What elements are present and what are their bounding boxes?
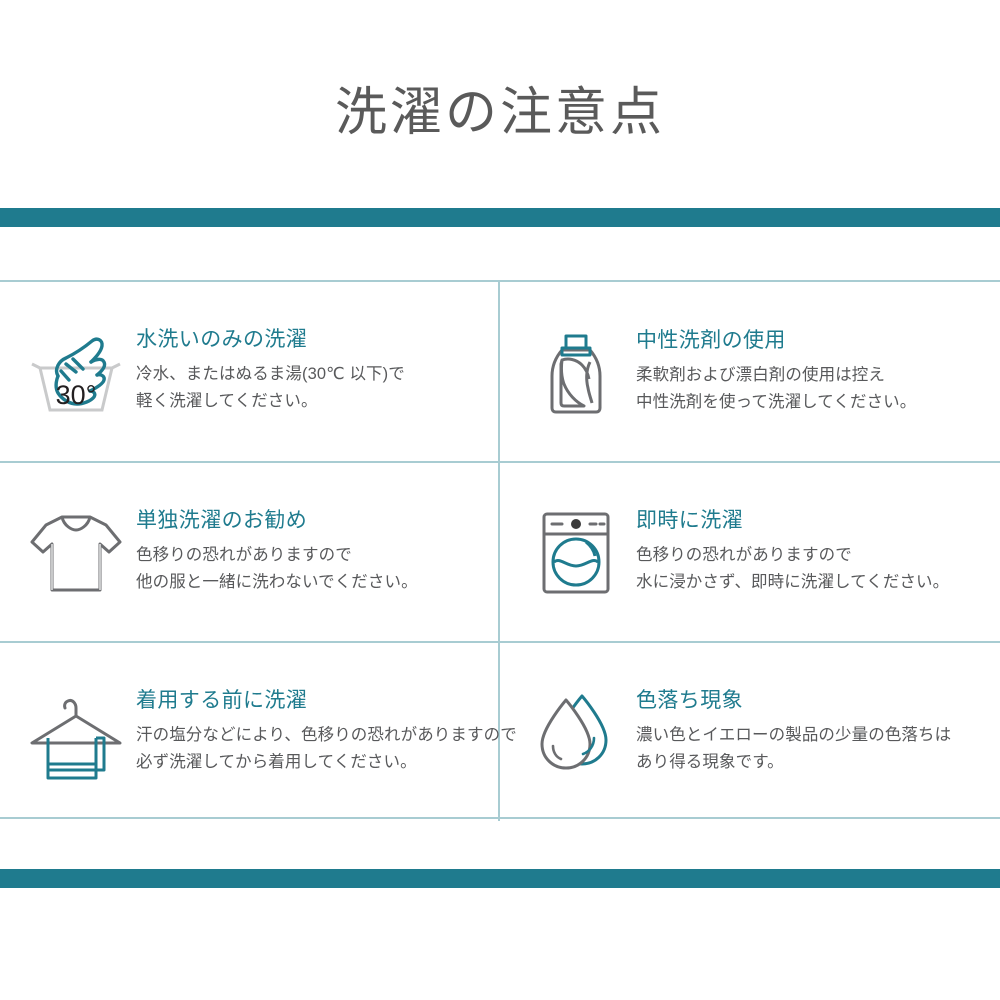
care-item-text: 色落ち現象 濃い色とイエローの製品の少量の色落ちは あり得る現象です。	[636, 688, 951, 776]
care-item-text: 水洗いのみの洗濯 冷水、またはぬるま湯(30℃ 以下)で 軽く洗濯してください。	[136, 327, 405, 415]
care-item-wash-before-wearing: 着用する前に洗濯 汗の塩分などにより、色移りの恐れがありますので 必ず洗濯してか…	[0, 641, 500, 821]
title-section: 洗濯の注意点	[0, 0, 1000, 208]
care-item-hand-wash: 30° 水洗いのみの洗濯 冷水、またはぬるま湯(30℃ 以下)で 軽く洗濯してく…	[0, 282, 500, 461]
bottom-accent-bar	[0, 869, 1000, 888]
care-item-text: 単独洗濯のお勧め 色移りの恐れがありますので 他の服と一緒に洗わないでください。	[136, 508, 418, 596]
care-item-line: 冷水、またはぬるま湯(30℃ 以下)で	[136, 361, 405, 388]
care-item-line: 中性洗剤を使って洗濯してください。	[636, 389, 916, 416]
care-item-title: 中性洗剤の使用	[636, 328, 916, 353]
hand-wash-basin-icon: 30°	[22, 318, 130, 426]
care-item-text: 中性洗剤の使用 柔軟剤および漂白剤の使用は控え 中性洗剤を使って洗濯してください…	[636, 328, 916, 416]
care-item-title: 水洗いのみの洗濯	[136, 327, 405, 352]
hanger-towel-icon	[22, 680, 130, 788]
care-item-line: あり得る現象です。	[636, 749, 951, 776]
care-item-text: 即時に洗濯 色移りの恐れがありますので 水に浸かさず、即時に洗濯してください。	[636, 508, 949, 596]
water-droplets-icon	[522, 678, 630, 786]
care-item-line: 色移りの恐れがありますので	[636, 542, 949, 569]
care-item-wash-immediately: 即時に洗濯 色移りの恐れがありますので 水に浸かさず、即時に洗濯してください。	[500, 461, 1000, 641]
care-item-title: 着用する前に洗濯	[136, 688, 517, 713]
care-item-line: 色移りの恐れがありますので	[136, 542, 418, 569]
care-item-line: 水に浸かさず、即時に洗濯してください。	[636, 569, 949, 596]
care-item-color-bleeding: 色落ち現象 濃い色とイエローの製品の少量の色落ちは あり得る現象です。	[500, 641, 1000, 821]
care-item-line: 濃い色とイエローの製品の少量の色落ちは	[636, 722, 951, 749]
care-item-neutral-detergent: 中性洗剤の使用 柔軟剤および漂白剤の使用は控え 中性洗剤を使って洗濯してください…	[500, 282, 1000, 461]
care-item-line: 軽く洗濯してください。	[136, 388, 405, 415]
laundry-care-infographic: 洗濯の注意点 30°	[0, 0, 1000, 1000]
care-item-title: 色落ち現象	[636, 688, 951, 713]
care-item-title: 単独洗濯のお勧め	[136, 508, 418, 533]
hand-wash-temperature-label: 30°	[56, 380, 97, 410]
care-item-line: 汗の塩分などにより、色移りの恐れがありますので	[136, 722, 517, 749]
care-item-wash-separately: 単独洗濯のお勧め 色移りの恐れがありますので 他の服と一緒に洗わないでください。	[0, 461, 500, 641]
top-accent-bar	[0, 208, 1000, 227]
care-item-line: 柔軟剤および漂白剤の使用は控え	[636, 362, 916, 389]
care-item-title: 即時に洗濯	[636, 508, 949, 533]
detergent-bottle-icon	[522, 318, 630, 426]
washing-machine-icon	[522, 498, 630, 606]
tshirt-icon	[22, 498, 130, 606]
care-item-line: 必ず洗濯してから着用してください。	[136, 749, 517, 776]
page-title: 洗濯の注意点	[335, 69, 665, 139]
care-item-text: 着用する前に洗濯 汗の塩分などにより、色移りの恐れがありますので 必ず洗濯してか…	[136, 688, 517, 776]
care-instructions-grid: 30° 水洗いのみの洗濯 冷水、またはぬるま湯(30℃ 以下)で 軽く洗濯してく…	[0, 280, 1000, 819]
care-item-line: 他の服と一緒に洗わないでください。	[136, 569, 418, 596]
